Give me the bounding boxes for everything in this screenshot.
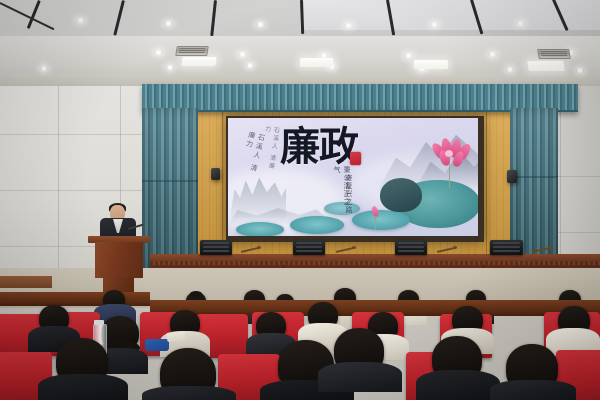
curtain-tieback-seam [510, 176, 558, 178]
led-screen[interactable]: 廉政 秉公清正之气 奋复兴之路 石溪人 清廉力 石溪人 清廉力 [228, 118, 478, 236]
wall-seam [0, 134, 146, 135]
calligraphy-column-right-2: 奋复兴之路 [344, 174, 354, 218]
photo-scene: 廉政 秉公清正之气 奋复兴之路 石溪人 清廉力 石溪人 清廉力 [0, 0, 600, 400]
downlight-icon [154, 50, 163, 55]
podium-body [95, 242, 143, 278]
wall-speaker-icon [507, 170, 517, 183]
lotus-stem [449, 164, 450, 188]
downlight-icon [344, 23, 353, 28]
lotus-pad [290, 216, 344, 234]
microphone-head-icon [352, 246, 356, 249]
audience-shoulders [142, 386, 236, 400]
audience-shoulders [416, 370, 500, 400]
ceiling-panel-light [527, 61, 565, 71]
audience-shoulders [490, 380, 576, 400]
microphone-head-icon [548, 246, 552, 249]
lotus-pad [352, 210, 410, 230]
table-monitor[interactable] [490, 240, 523, 255]
downlight-icon [576, 68, 584, 73]
bottle-cap [94, 320, 104, 325]
curtain-left-shading [142, 108, 198, 273]
wall-seam [560, 86, 561, 276]
downlight-icon [488, 52, 497, 57]
lotus-flower-center [445, 150, 453, 157]
downlight-icon [516, 21, 525, 26]
lotus-pad [236, 222, 284, 236]
audience-shoulders [318, 362, 402, 392]
audience-bench-row [0, 276, 52, 288]
curtain-tieback-seam [142, 180, 198, 182]
hvac-vent-icon [175, 46, 209, 56]
downlight-icon [430, 22, 439, 27]
calligraphy-main: 廉政 [280, 128, 376, 166]
lotus-leaf-dark [380, 178, 422, 212]
hair-clip [190, 291, 202, 297]
microphone-head-icon [257, 246, 261, 249]
wood-panel-seam [222, 104, 223, 254]
table-monitor[interactable] [293, 240, 325, 255]
wall-seam [0, 190, 146, 191]
hvac-vent-icon [537, 49, 571, 59]
downlight-icon [404, 53, 413, 58]
downlight-icon [256, 22, 265, 27]
downlight-icon [166, 65, 174, 70]
led-screen-frame: 廉政 秉公清正之气 奋复兴之路 石溪人 清廉力 石溪人 清廉力 [226, 116, 484, 242]
notebook[interactable] [167, 331, 186, 342]
downlight-icon [76, 18, 85, 23]
wood-panel-seam [486, 104, 487, 254]
ceiling-panel-light [414, 60, 448, 69]
downlight-icon [40, 66, 48, 71]
table-monitor[interactable] [395, 240, 427, 255]
ceiling-panel-light [300, 58, 333, 67]
table-monitor[interactable] [200, 240, 232, 255]
downlight-icon [238, 52, 247, 57]
wall-speaker-icon [211, 168, 220, 180]
red-seal-stamp [350, 152, 361, 165]
microphone-head-icon [453, 246, 457, 249]
ceiling-panel-light [181, 57, 216, 66]
downlight-icon [164, 21, 173, 26]
wall-seam [58, 86, 59, 270]
audience-shoulders [38, 374, 128, 400]
downlight-icon [246, 63, 254, 68]
audience-bench-row [0, 292, 150, 306]
blue-bag[interactable] [145, 339, 169, 351]
downlight-icon [506, 67, 514, 72]
lotus-bud-stem [375, 216, 376, 229]
